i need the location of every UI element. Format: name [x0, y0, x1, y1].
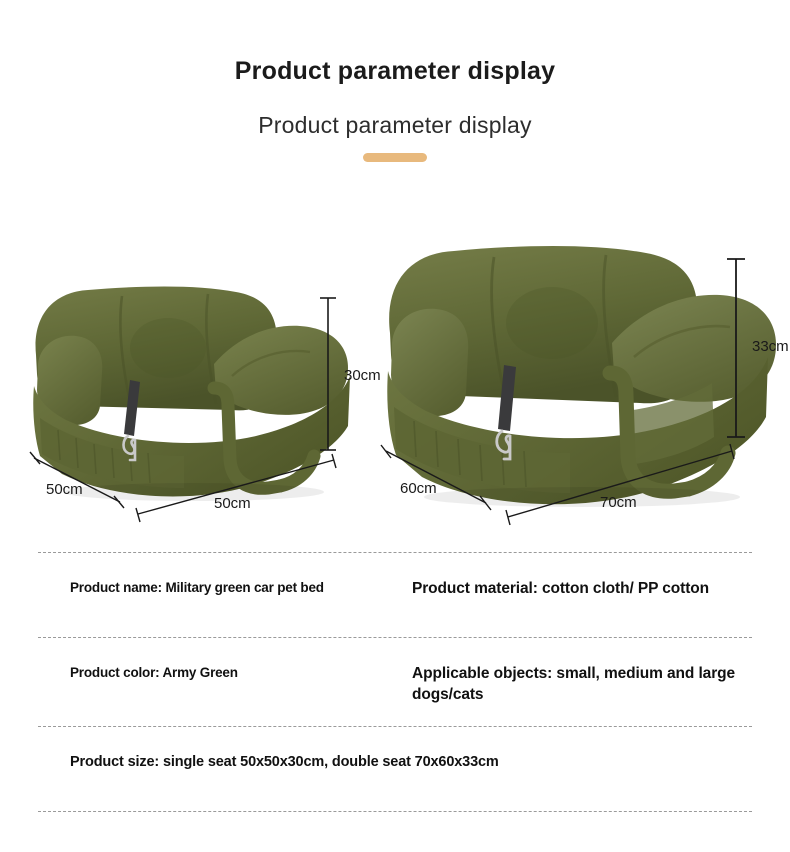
dimension-label-width: 50cm [214, 495, 251, 512]
dimension-label-height: 33cm [752, 338, 789, 355]
spec-product-size: Product size: single seat 50x50x30cm, do… [0, 753, 790, 773]
page-header: Product parameter display Product parame… [0, 0, 790, 162]
dimension-label-depth: 50cm [46, 481, 83, 498]
spec-product-color: Product color: Army Green [0, 664, 382, 682]
page-subtitle: Product parameter display [0, 112, 790, 139]
spec-product-material: Product material: cotton cloth/ PP cotto… [382, 579, 790, 600]
spec-row: Product size: single seat 50x50x30cm, do… [0, 727, 790, 811]
backrest-tuft [130, 318, 206, 378]
dimension-label-depth: 60cm [400, 480, 437, 497]
spec-applicable-objects: Applicable objects: small, medium and la… [382, 664, 790, 706]
product-image-double-seat: 33cm 60cm 70cm [368, 225, 780, 535]
spec-product-name: Product name: Military green car pet bed [0, 579, 382, 597]
product-parameter-page: Product parameter display Product parame… [0, 0, 790, 852]
dimension-label-width: 70cm [600, 494, 637, 511]
spec-divider [38, 811, 752, 812]
spec-row: Product color: Army Green Applicable obj… [0, 638, 790, 726]
title-accent-rule [363, 153, 427, 162]
product-shadow [424, 487, 740, 507]
spec-row: Product name: Military green car pet bed… [0, 553, 790, 637]
product-image-single-seat: 30cm 50cm 50cm [18, 260, 378, 535]
product-showcase: 30cm 50cm 50cm [0, 215, 790, 535]
page-title: Product parameter display [0, 57, 790, 86]
backrest-tuft [506, 287, 598, 359]
spec-table: Product name: Military green car pet bed… [0, 552, 790, 812]
